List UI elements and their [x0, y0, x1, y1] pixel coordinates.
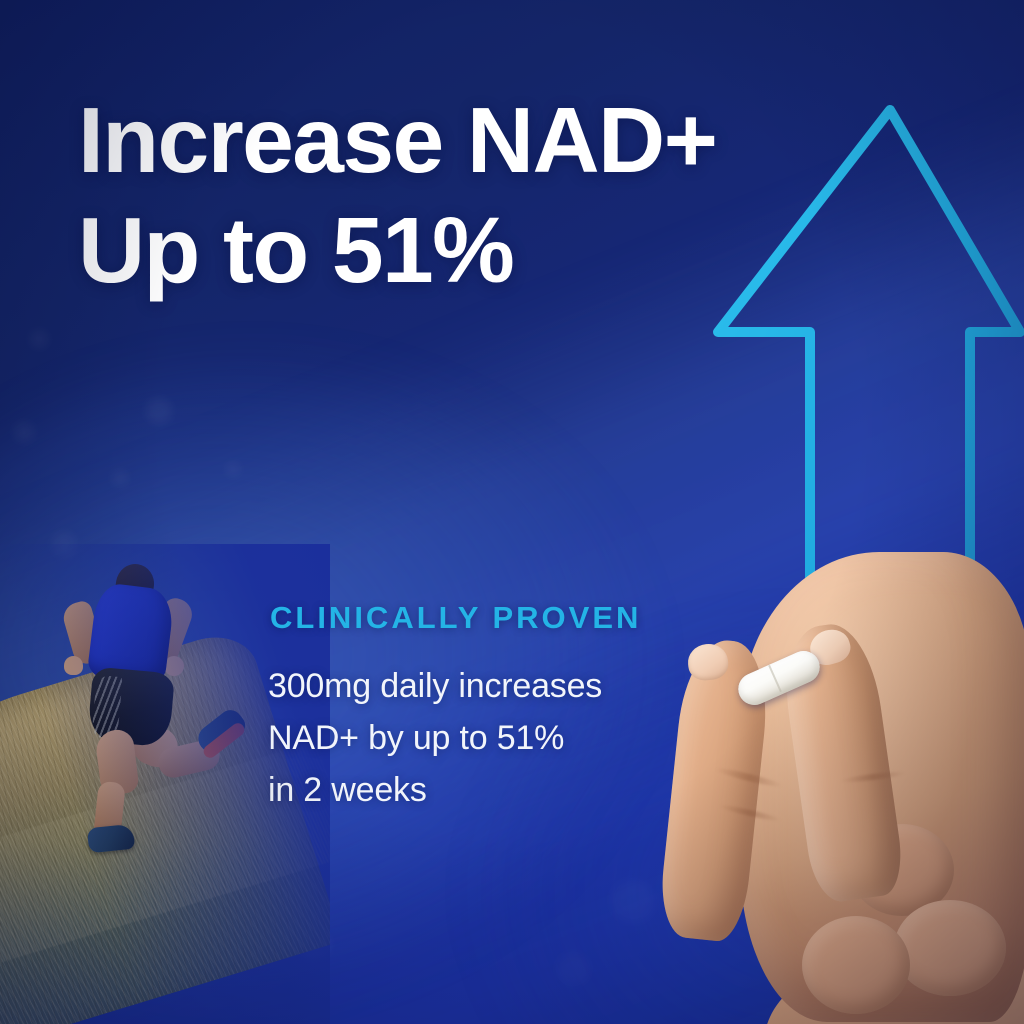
vignette-overlay [0, 0, 1024, 1024]
advertisement-canvas: Increase NAD+ Up to 51% CLINICALLY PROVE… [0, 0, 1024, 1024]
